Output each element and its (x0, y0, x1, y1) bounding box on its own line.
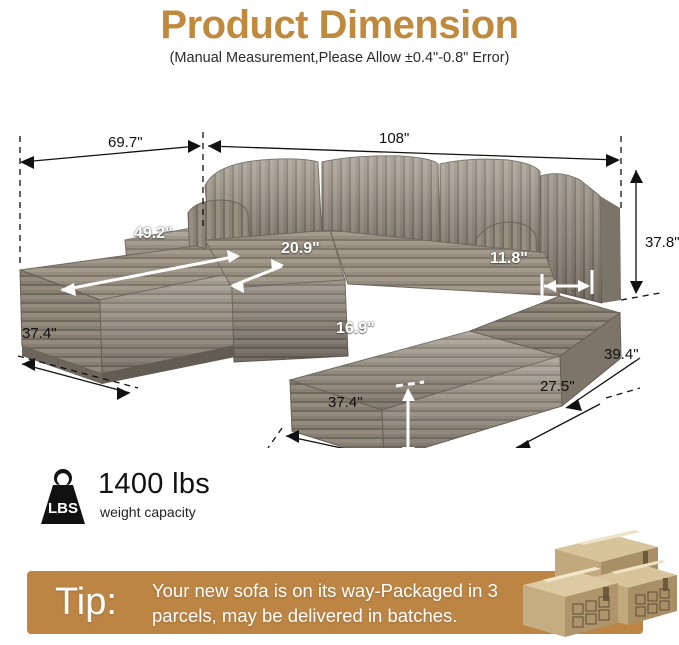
weight-icon: LBS (38, 466, 88, 528)
dimension-label-overall-width: 108" (379, 130, 409, 147)
dimension-diagram: 69.7" 108" 49.2" 20.9" 11.8" 16.9" 37.8"… (0, 88, 679, 448)
dimension-label-arm-width: 11.8" (490, 250, 528, 268)
dimension-label-seat-height: 16.9" (336, 320, 375, 338)
parcel-boxes-icon (515, 527, 679, 639)
dimension-label-right-chaise-depth: 27.5" (540, 378, 575, 395)
dimension-label-overall-height: 37.8" (645, 234, 679, 251)
dimension-label-overall-depth: 39.4" (604, 346, 639, 363)
dimension-label-right-chaise-width: 37.4" (328, 394, 363, 411)
weight-icon-label: LBS (48, 500, 78, 517)
weight-capacity-block: LBS 1400 lbs weight capacity (38, 466, 338, 536)
page-subtitle: (Manual Measurement,Please Allow ±0.4"-0… (0, 48, 679, 68)
dimension-label-chaise-seat-depth: 49.2" (134, 225, 173, 243)
dimension-label-left-chaise-depth: 37.4" (22, 325, 57, 342)
dimension-label-chaise-width: 69.7" (108, 134, 143, 151)
dimension-label-seat-depth: 20.9" (281, 240, 320, 258)
tip-text: Your new sofa is on its way-Packaged in … (152, 578, 542, 628)
sofa-graphic (20, 156, 621, 448)
infographic-root: Product Dimension (Manual Measurement,Pl… (0, 0, 679, 645)
weight-caption: weight capacity (100, 504, 196, 520)
page-title: Product Dimension (0, 2, 679, 48)
weight-value: 1400 lbs (98, 468, 210, 501)
tip-label: Tip: (55, 576, 117, 628)
